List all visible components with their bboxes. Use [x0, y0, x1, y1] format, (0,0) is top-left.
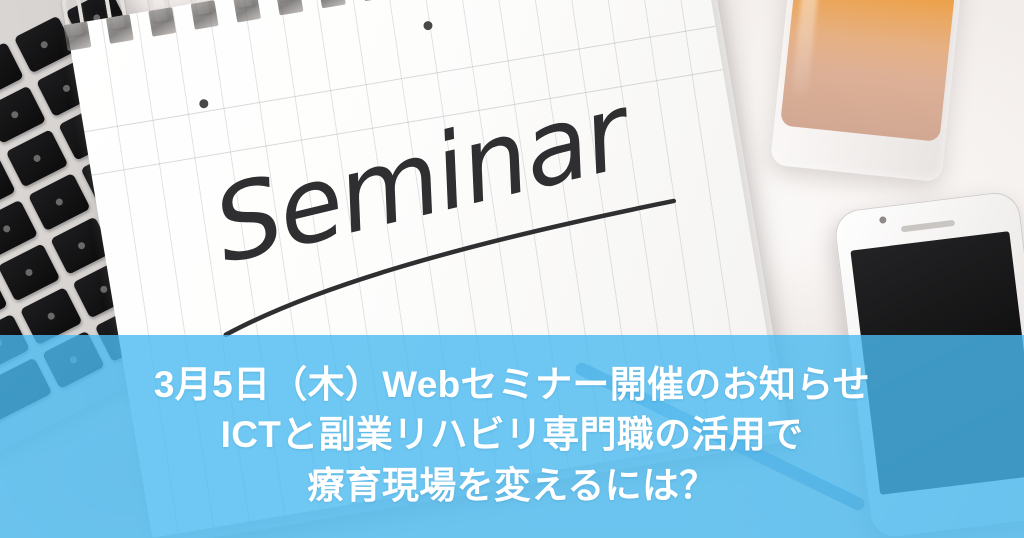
banner-line-1: 3月5日（木）Webセミナー開催のお知らせ	[154, 361, 870, 409]
banner-line-2: ICTと副業リハビリ専門職の活用で	[221, 411, 804, 459]
spiral-ring	[142, 0, 178, 45]
banner-image: Seminar	[0, 0, 1024, 538]
banner-line-3: 療育現場を変えるには？	[307, 462, 716, 510]
title-banner: 3月5日（木）Webセミナー開催のお知らせ ICTと副業リハビリ専門職の活用で …	[0, 335, 1024, 538]
spiral-ring	[270, 0, 306, 24]
spiral-ring	[397, 0, 433, 2]
spiral-ring	[354, 0, 390, 9]
spiral-ring	[312, 0, 348, 16]
spiral-ring	[185, 0, 221, 38]
spiral-ring	[227, 0, 263, 31]
spiral-ring	[100, 0, 136, 52]
orange-juice-glass	[770, 0, 966, 182]
